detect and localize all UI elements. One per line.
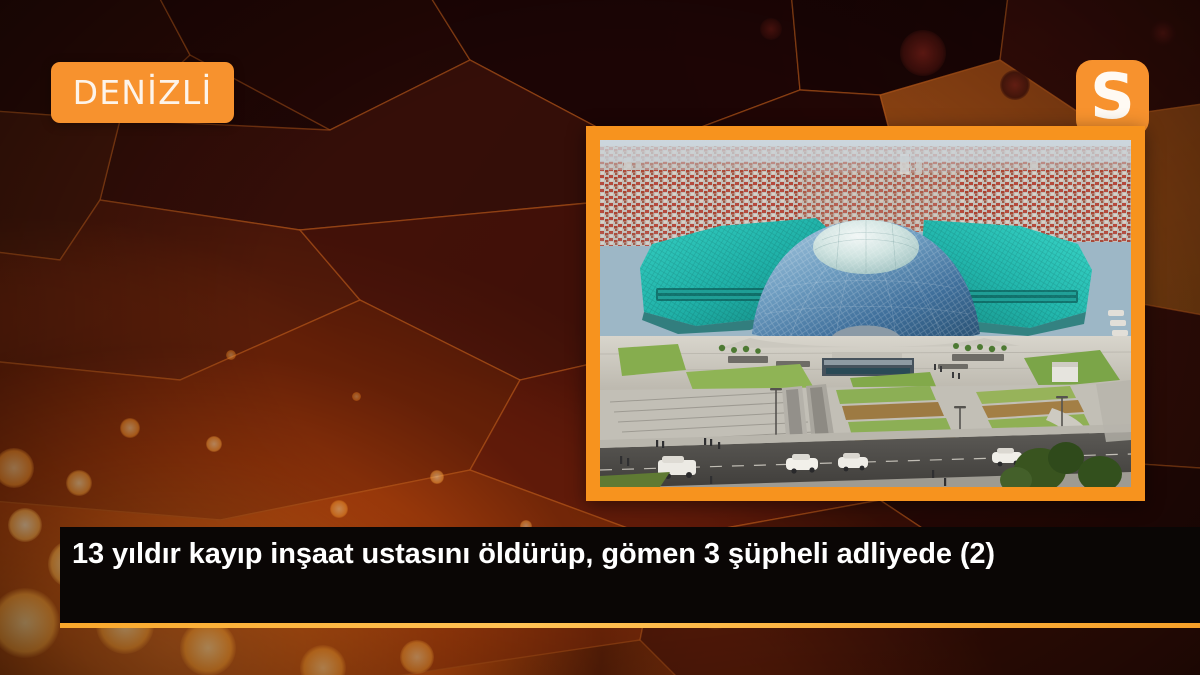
city-badge-label: DENİZLİ bbox=[73, 76, 213, 109]
photo-frame bbox=[586, 126, 1145, 501]
brand-s-logo[interactable]: S bbox=[1076, 60, 1149, 136]
news-card: DENİZLİ S bbox=[0, 0, 1200, 675]
news-photo bbox=[600, 140, 1131, 487]
headline-accent-rule bbox=[60, 623, 1200, 628]
headline-text: 13 yıldır kayıp inşaat ustasını öldürüp,… bbox=[72, 537, 1178, 573]
city-badge: DENİZLİ bbox=[51, 62, 234, 123]
brand-logo-letter: S bbox=[1090, 66, 1135, 128]
headline-panel: 13 yıldır kayıp inşaat ustasını öldürüp,… bbox=[60, 527, 1200, 625]
